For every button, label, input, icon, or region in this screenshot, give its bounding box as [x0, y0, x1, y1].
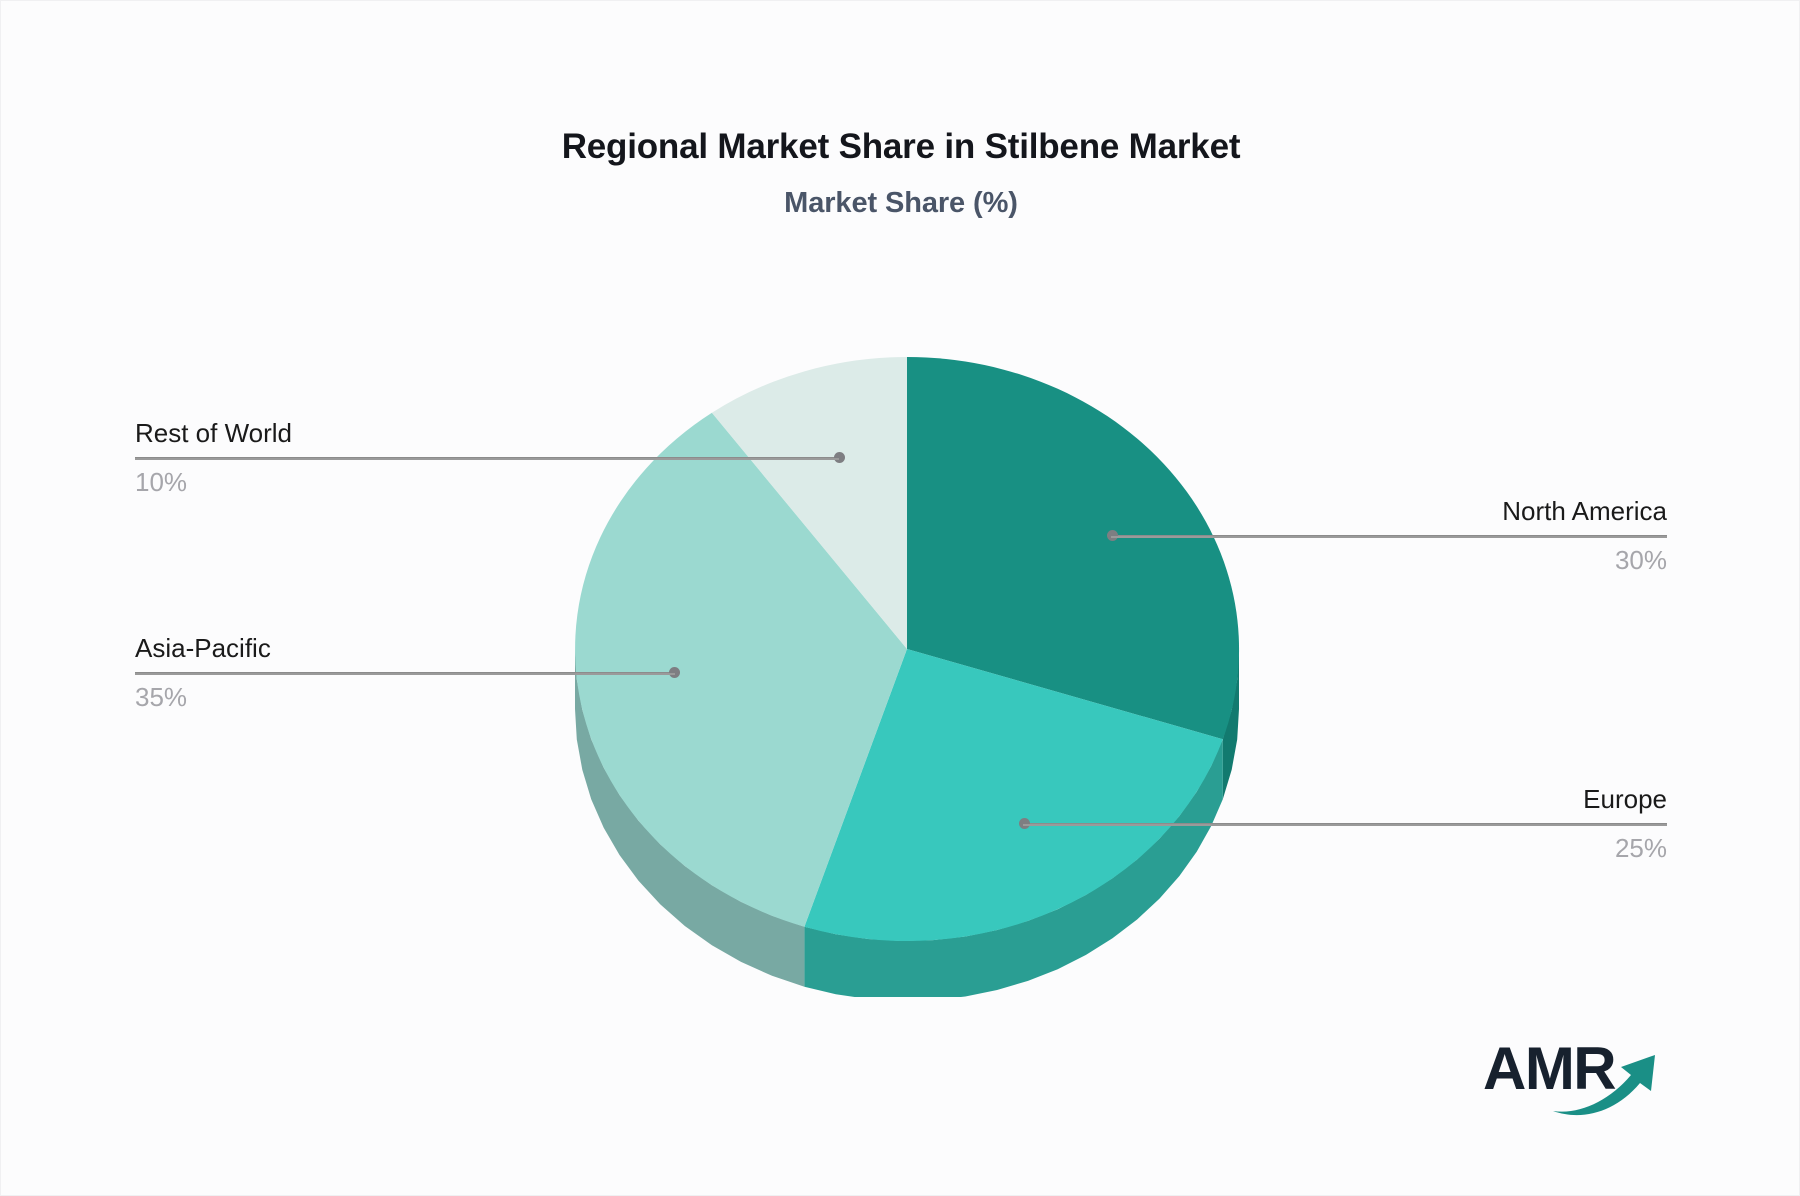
callout-value-asia-pacific: 35%	[135, 683, 675, 713]
callout-label-north-america: North America	[1111, 497, 1667, 527]
callout-europe: Europe 25%	[1023, 785, 1667, 864]
callout-label-europe: Europe	[1023, 785, 1667, 815]
callout-label-rest-of-world: Rest of World	[135, 419, 839, 449]
callout-value-europe: 25%	[1023, 834, 1667, 864]
growth-arrow-icon	[1551, 1045, 1663, 1117]
chart-title: Regional Market Share in Stilbene Market	[1, 125, 1800, 169]
chart-canvas: Regional Market Share in Stilbene Market…	[0, 0, 1800, 1196]
callout-rule-europe	[1023, 824, 1667, 826]
callout-value-rest-of-world: 10%	[135, 468, 839, 498]
callout-value-north-america: 30%	[1111, 546, 1667, 576]
callout-label-asia-pacific: Asia-Pacific	[135, 634, 675, 664]
callout-rule-rest-of-world	[135, 458, 839, 460]
amr-logo: AMR	[1483, 1033, 1663, 1117]
chart-subtitle: Market Share (%)	[1, 187, 1800, 220]
title-block: Regional Market Share in Stilbene Market…	[1, 125, 1800, 220]
growth-arrow-path	[1553, 1055, 1655, 1115]
callout-rule-north-america	[1111, 536, 1667, 538]
callout-asia-pacific: Asia-Pacific 35%	[135, 634, 675, 713]
callout-north-america: North America 30%	[1111, 497, 1667, 576]
callout-rule-asia-pacific	[135, 673, 675, 675]
callout-rest-of-world: Rest of World 10%	[135, 419, 839, 498]
